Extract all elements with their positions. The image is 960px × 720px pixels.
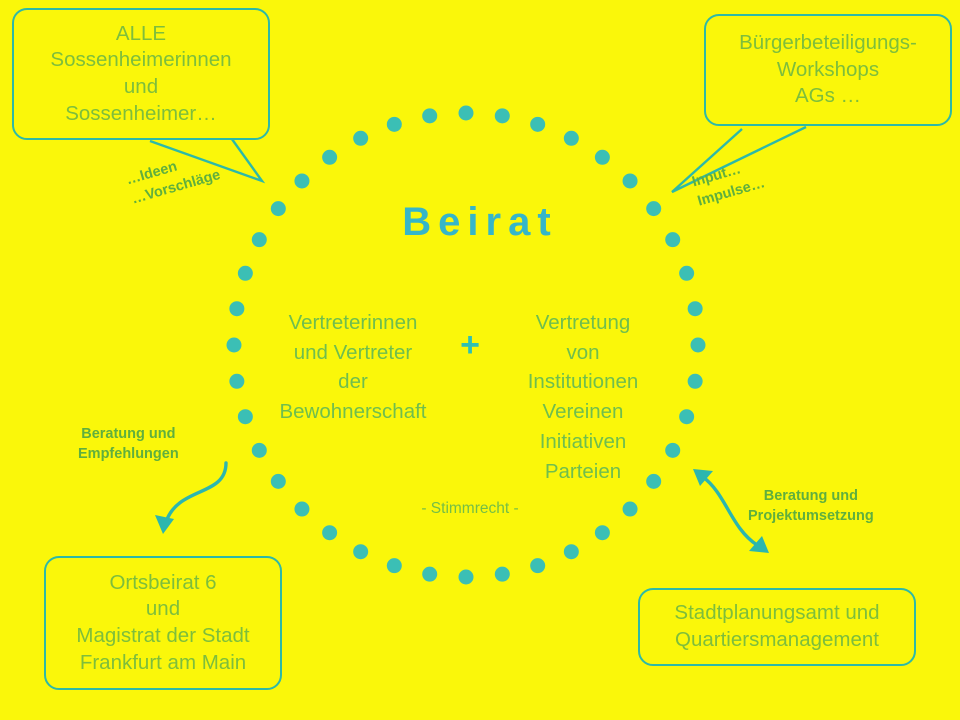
- box-ortsbeirat-line-4: Frankfurt am Main: [52, 650, 274, 677]
- box-workshops-line-3: AGs …: [712, 83, 944, 110]
- diagram-canvas: ALLE Sossenheimerinnen und Sossenheimer……: [0, 0, 960, 720]
- center-right-line-5: Initiativen: [488, 427, 678, 457]
- box-stadtplanung-line-1: Stadtplanungsamt und: [646, 600, 908, 627]
- center-right-line-4: Vereinen: [488, 397, 678, 427]
- center-right-line-6: Parteien: [488, 457, 678, 487]
- annotation-beratung-projektumsetzung: Beratung und Projektumsetzung: [748, 487, 874, 526]
- speech-bubble-workshops: Bürgerbeteiligungs- Workshops AGs …: [704, 14, 952, 126]
- arrow-beratung-empfehlungen: [166, 463, 226, 522]
- box-ortsbeirat: Ortsbeirat 6 und Magistrat der Stadt Fra…: [44, 556, 282, 690]
- center-left-line-4: Bewohnerschaft: [258, 397, 448, 427]
- speech-bubble-alle: ALLE Sossenheimerinnen und Sossenheimer…: [12, 8, 270, 140]
- box-alle-line-4: Sossenheimer…: [20, 101, 262, 128]
- center-right-line-1: Vertretung: [488, 308, 678, 338]
- stimmrecht-footnote: - Stimmrecht -: [330, 500, 610, 518]
- center-left-line-3: der: [258, 367, 448, 397]
- box-workshops-line-2: Workshops: [712, 57, 944, 84]
- arrowhead-down-left: [155, 515, 174, 534]
- annotation-beratung-projektumsetzung-line-1: Beratung und: [748, 487, 874, 507]
- center-right-line-3: Institutionen: [488, 367, 678, 397]
- annotation-beratung-projektumsetzung-line-2: Projektumsetzung: [748, 507, 874, 527]
- center-left-column: Vertreterinnen und Vertreter der Bewohne…: [258, 308, 448, 427]
- box-alle-line-2: Sossenheimerinnen: [20, 47, 262, 74]
- box-stadtplanungsamt: Stadtplanungsamt und Quartiersmanagement: [638, 588, 916, 666]
- box-ortsbeirat-line-3: Magistrat der Stadt: [52, 623, 274, 650]
- box-alle-line-1: ALLE: [20, 21, 262, 48]
- box-stadtplanung-line-2: Quartiersmanagement: [646, 627, 908, 654]
- center-right-line-2: von: [488, 338, 678, 368]
- box-alle-line-3: und: [20, 74, 262, 101]
- center-left-line-2: und Vertreter: [258, 338, 448, 368]
- center-left-line-1: Vertreterinnen: [258, 308, 448, 338]
- box-ortsbeirat-line-1: Ortsbeirat 6: [52, 570, 274, 597]
- annotation-beratung-empfehlungen: Beratung und Empfehlungen: [78, 425, 179, 464]
- arrowhead-down-right: [749, 536, 769, 553]
- box-workshops-line-1: Bürgerbeteiligungs-: [712, 30, 944, 57]
- annotation-beratung-empfehlungen-line-2: Empfehlungen: [78, 445, 179, 465]
- center-right-column: Vertretung von Institutionen Vereinen In…: [488, 308, 678, 486]
- box-ortsbeirat-line-2: und: [52, 596, 274, 623]
- annotation-beratung-empfehlungen-line-1: Beratung und: [78, 425, 179, 445]
